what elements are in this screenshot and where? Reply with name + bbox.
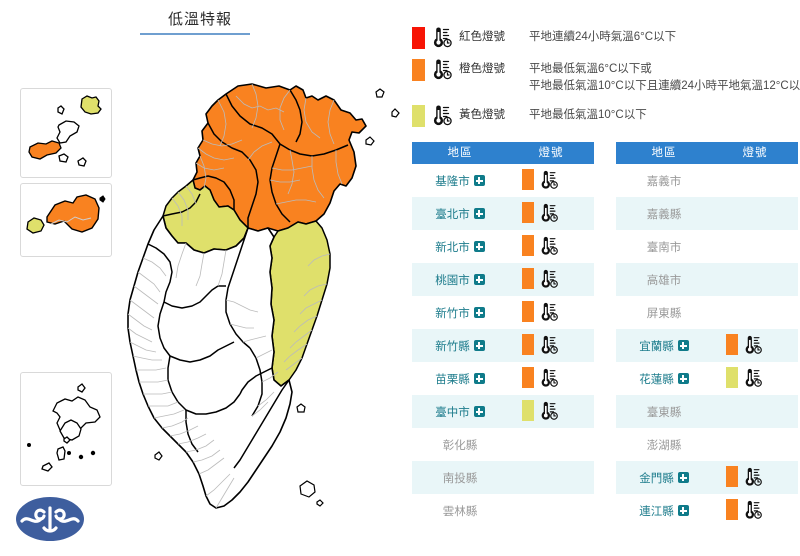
penghu-islet-n <box>78 384 85 392</box>
legend-label-red: 紅色燈號 <box>459 26 529 48</box>
legend-desc-orange-line1: 平地最低氣溫6°C以下或 <box>529 61 800 78</box>
thermometer-icon <box>743 334 763 355</box>
table-row[interactable]: 桃園市 <box>412 263 594 296</box>
signal-color-swatch <box>522 268 534 289</box>
table-row[interactable]: 臺中市 <box>412 395 594 428</box>
area-label: 新竹縣 <box>435 338 470 354</box>
thermometer-icon <box>431 26 453 48</box>
area-label: 嘉義市 <box>647 173 682 189</box>
table-cell-signal-left-7 <box>508 395 594 428</box>
table-cell-signal-right-5 <box>712 329 798 362</box>
warning-tables: 地區 燈號 基隆市 臺北市 新北市 桃園市 新竹市 新竹縣 <box>412 142 798 527</box>
expand-plus-icon[interactable] <box>474 373 485 384</box>
signal-color-swatch <box>522 202 534 223</box>
matsu-islet-c <box>59 154 68 162</box>
legend-row-orange: 橙色燈號 平地最低氣溫6°C以下或 平地最低氣溫10°C以下且連續24小時平地氣… <box>412 58 796 95</box>
table-row: 嘉義市 <box>616 164 798 197</box>
column-header-area: 地區 <box>616 142 712 164</box>
title-underline <box>140 33 250 35</box>
legend-desc-red-line1: 平地連續24小時氣溫6°C以下 <box>529 29 796 46</box>
expand-plus-icon[interactable] <box>678 505 689 516</box>
area-label: 花蓮縣 <box>639 371 674 387</box>
table-cell-area-right-7: 臺東縣 <box>616 395 712 428</box>
column-header-area: 地區 <box>412 142 508 164</box>
legend-desc-yellow: 平地最低氣溫10°C以下 <box>529 104 796 124</box>
table-cell-signal-right-2 <box>712 230 798 263</box>
table-row[interactable]: 花蓮縣 <box>616 362 798 395</box>
table-row: 嘉義縣 <box>616 197 798 230</box>
signal-color-swatch <box>522 169 534 190</box>
table-row: 南投縣 <box>412 461 594 494</box>
table-cell-area-left-2[interactable]: 新北市 <box>412 230 508 263</box>
matsu-islet-a <box>58 106 64 114</box>
area-label: 澎湖縣 <box>647 437 682 453</box>
penghu-inset[interactable] <box>20 372 112 486</box>
table-row[interactable]: 連江縣 <box>616 494 798 527</box>
kinmen-little-island <box>27 218 44 233</box>
kinmen-main-island <box>47 195 99 232</box>
thermometer-icon <box>539 202 559 223</box>
table-cell-signal-left-6 <box>508 362 594 395</box>
table-header-row: 地區 燈號 <box>412 142 594 164</box>
expand-plus-icon[interactable] <box>474 340 485 351</box>
area-label: 桃園市 <box>435 272 470 288</box>
signal-color-swatch <box>522 400 534 421</box>
area-label: 臺東縣 <box>647 404 682 420</box>
map-panel <box>0 0 408 556</box>
table-cell-area-left-8: 彰化縣 <box>412 428 508 461</box>
table-row: 屏東縣 <box>616 296 798 329</box>
area-label: 金門縣 <box>639 470 674 486</box>
table-cell-area-left-10: 雲林縣 <box>412 494 508 527</box>
area-label: 連江縣 <box>639 503 674 519</box>
table-cell-area-left-0[interactable]: 基隆市 <box>412 164 508 197</box>
area-label: 新北市 <box>435 239 470 255</box>
expand-plus-icon[interactable] <box>474 406 485 417</box>
signal-color-swatch <box>726 367 738 388</box>
area-label: 彰化縣 <box>443 437 478 453</box>
table-cell-signal-left-8 <box>508 428 594 461</box>
matsu-islet-orange <box>29 141 61 159</box>
area-label: 臺中市 <box>435 404 470 420</box>
table-cell-signal-left-4 <box>508 296 594 329</box>
thermometer-icon <box>539 334 559 355</box>
table-cell-signal-left-1 <box>508 197 594 230</box>
table-row[interactable]: 苗栗縣 <box>412 362 594 395</box>
expand-plus-icon[interactable] <box>474 241 485 252</box>
area-label: 屏東縣 <box>647 305 682 321</box>
table-cell-signal-right-8 <box>712 428 798 461</box>
penghu-islet-qimei <box>57 447 65 460</box>
table-cell-signal-left-2 <box>508 230 594 263</box>
table-cell-area-right-9[interactable]: 金門縣 <box>616 461 712 494</box>
page-title-block: 低溫特報 <box>140 10 260 35</box>
area-label: 苗栗縣 <box>435 371 470 387</box>
table-row[interactable]: 宜蘭縣 <box>616 329 798 362</box>
expand-plus-icon[interactable] <box>474 274 485 285</box>
area-label: 臺北市 <box>435 206 470 222</box>
table-row[interactable]: 新竹市 <box>412 296 594 329</box>
table-row: 臺東縣 <box>616 395 798 428</box>
table-cell-area-right-10[interactable]: 連江縣 <box>616 494 712 527</box>
table-cell-area-right-4: 屏東縣 <box>616 296 712 329</box>
signal-color-swatch <box>522 301 534 322</box>
table-cell-signal-left-0 <box>508 164 594 197</box>
table-cell-signal-left-10 <box>508 494 594 527</box>
table-cell-area-left-3[interactable]: 桃園市 <box>412 263 508 296</box>
table-row[interactable]: 新北市 <box>412 230 594 263</box>
area-label: 基隆市 <box>435 173 470 189</box>
table-row: 澎湖縣 <box>616 428 798 461</box>
kinmen-islet <box>100 196 105 202</box>
expand-plus-icon[interactable] <box>474 208 485 219</box>
area-label: 新竹市 <box>435 305 470 321</box>
table-row[interactable]: 基隆市 <box>412 164 594 197</box>
warning-table-left: 地區 燈號 基隆市 臺北市 新北市 桃園市 新竹市 新竹縣 <box>412 142 594 527</box>
table-row[interactable]: 臺北市 <box>412 197 594 230</box>
matsu-islet-d <box>78 158 86 166</box>
legend-desc-orange: 平地最低氣溫6°C以下或 平地最低氣溫10°C以下且連續24小時平地氣溫12°C… <box>529 58 800 95</box>
table-row: 高雄市 <box>616 263 798 296</box>
legend-desc-red: 平地連續24小時氣溫6°C以下 <box>529 26 796 46</box>
table-row[interactable]: 金門縣 <box>616 461 798 494</box>
signal-color-swatch <box>726 334 738 355</box>
map-region-yellow-east <box>270 221 330 386</box>
table-row: 彰化縣 <box>412 428 594 461</box>
legend-desc-yellow-line1: 平地最低氣溫10°C以下 <box>529 107 796 124</box>
thermometer-icon <box>539 400 559 421</box>
table-cell-signal-left-9 <box>508 461 594 494</box>
matsu-islet-b <box>57 121 79 143</box>
legend-label-orange: 橙色燈號 <box>459 58 529 80</box>
table-row: 雲林縣 <box>412 494 594 527</box>
table-cell-signal-right-7 <box>712 395 798 428</box>
expand-plus-icon[interactable] <box>474 307 485 318</box>
thermometer-icon <box>743 367 763 388</box>
area-label: 臺南市 <box>647 239 682 255</box>
table-row: 臺南市 <box>616 230 798 263</box>
legend-swatch-red <box>412 27 425 49</box>
warning-table-right: 地區 燈號 嘉義市嘉義縣臺南市高雄市屏東縣宜蘭縣 花蓮縣 臺東縣澎湖縣金門縣 連… <box>616 142 798 527</box>
table-cell-signal-left-5 <box>508 329 594 362</box>
table-cell-area-left-7[interactable]: 臺中市 <box>412 395 508 428</box>
table-cell-area-right-5[interactable]: 宜蘭縣 <box>616 329 712 362</box>
kinmen-inset-svg <box>21 184 109 254</box>
table-cell-area-right-0: 嘉義市 <box>616 164 712 197</box>
table-cell-area-left-9: 南投縣 <box>412 461 508 494</box>
area-label: 南投縣 <box>443 470 478 486</box>
thermometer-icon <box>539 268 559 289</box>
thermometer-icon <box>431 58 453 80</box>
legend-label-yellow: 黃色燈號 <box>459 104 529 126</box>
table-cell-area-right-8: 澎湖縣 <box>616 428 712 461</box>
penghu-islet-w <box>42 463 52 471</box>
table-cell-signal-right-4 <box>712 296 798 329</box>
table-cell-area-right-1: 嘉義縣 <box>616 197 712 230</box>
expand-plus-icon[interactable] <box>678 340 689 351</box>
table-cell-signal-right-0 <box>712 164 798 197</box>
thermometer-icon <box>431 104 453 126</box>
table-cell-signal-right-1 <box>712 197 798 230</box>
table-row[interactable]: 新竹縣 <box>412 329 594 362</box>
area-label: 宜蘭縣 <box>639 338 674 354</box>
thermometer-icon <box>539 367 559 388</box>
column-header-signal: 燈號 <box>712 142 798 164</box>
signal-color-swatch <box>726 466 738 487</box>
expand-plus-icon[interactable] <box>678 373 689 384</box>
thermometer-icon <box>743 466 763 487</box>
table-cell-area-left-4[interactable]: 新竹市 <box>412 296 508 329</box>
cwb-logo <box>14 492 86 546</box>
thermometer-icon <box>743 499 763 520</box>
table-cell-area-right-6[interactable]: 花蓮縣 <box>616 362 712 395</box>
table-cell-area-left-1[interactable]: 臺北市 <box>412 197 508 230</box>
matsu-islet-yellow <box>81 96 101 114</box>
map-region-uncolored <box>128 216 292 508</box>
table-cell-area-right-3: 高雄市 <box>616 263 712 296</box>
legend-row-yellow: 黃色燈號 平地最低氣溫10°C以下 <box>412 104 796 127</box>
table-cell-signal-left-3 <box>508 263 594 296</box>
column-header-signal: 燈號 <box>508 142 594 164</box>
thermometer-icon <box>539 235 559 256</box>
area-label: 嘉義縣 <box>647 206 682 222</box>
legend: 紅色燈號 平地連續24小時氣溫6°C以下 橙色燈號 平地最低氣溫6°C以下或 平… <box>412 26 796 136</box>
legend-swatch-orange <box>412 59 425 81</box>
table-cell-signal-right-6 <box>712 362 798 395</box>
penghu-inset-svg <box>21 373 109 483</box>
signal-color-swatch <box>522 367 534 388</box>
table-cell-signal-right-9 <box>712 461 798 494</box>
kinmen-inset[interactable] <box>20 183 112 257</box>
table-cell-area-right-2: 臺南市 <box>616 230 712 263</box>
table-cell-area-left-5[interactable]: 新竹縣 <box>412 329 508 362</box>
signal-color-swatch <box>522 235 534 256</box>
matsu-inset[interactable] <box>20 88 112 178</box>
signal-color-swatch <box>522 334 534 355</box>
table-cell-area-left-6[interactable]: 苗栗縣 <box>412 362 508 395</box>
legend-swatch-yellow <box>412 105 425 127</box>
page-title: 低溫特報 <box>140 10 260 30</box>
thermometer-icon <box>539 169 559 190</box>
area-label: 雲林縣 <box>443 503 478 519</box>
expand-plus-icon[interactable] <box>474 175 485 186</box>
legend-desc-orange-line2: 平地最低氣溫10°C以下且連續24小時平地氣溫12°C以下 <box>529 78 800 95</box>
table-cell-signal-right-10 <box>712 494 798 527</box>
matsu-inset-svg <box>21 89 109 175</box>
legend-row-red: 紅色燈號 平地連續24小時氣溫6°C以下 <box>412 26 796 49</box>
table-cell-signal-right-3 <box>712 263 798 296</box>
expand-plus-icon[interactable] <box>678 472 689 483</box>
table-header-row: 地區 燈號 <box>616 142 798 164</box>
thermometer-icon <box>539 301 559 322</box>
signal-color-swatch <box>726 499 738 520</box>
area-label: 高雄市 <box>647 272 682 288</box>
